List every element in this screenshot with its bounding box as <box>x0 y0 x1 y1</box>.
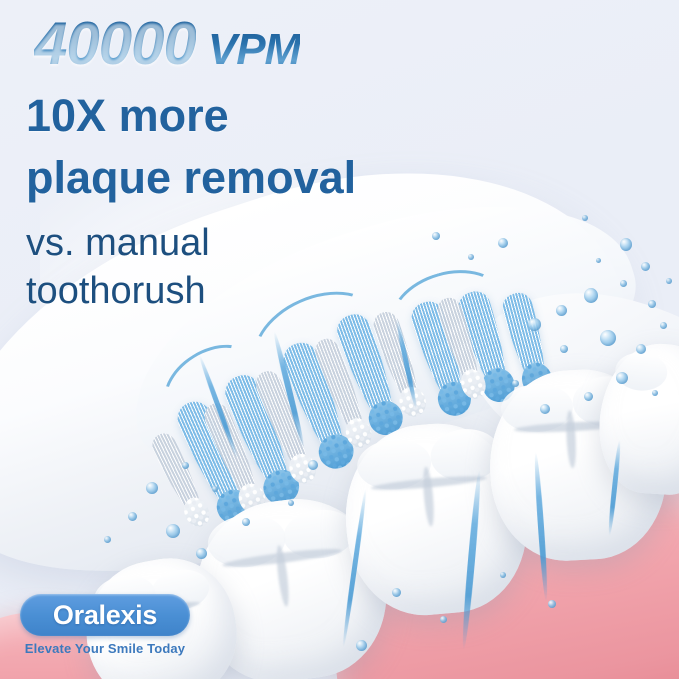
water-droplet <box>468 254 474 260</box>
water-droplet <box>620 238 632 251</box>
comparison-line-1: vs. manual <box>26 224 210 264</box>
headline-vpm: 40000VPM <box>34 14 300 74</box>
headline-number: 40000 <box>34 10 196 77</box>
water-droplet <box>584 288 598 303</box>
water-droplet <box>666 278 672 284</box>
water-droplet <box>616 372 628 384</box>
water-droplet <box>500 572 506 578</box>
water-droplet <box>146 482 158 494</box>
water-droplet <box>182 462 189 469</box>
water-droplet <box>556 305 567 316</box>
headline-unit: VPM <box>208 25 300 74</box>
water-droplet <box>560 345 568 353</box>
brand-name: Oralexis <box>53 602 157 629</box>
water-droplet <box>636 344 646 354</box>
water-droplet <box>498 238 508 248</box>
claim-line-1: 10X more <box>26 93 229 139</box>
water-droplet <box>620 280 627 287</box>
comparison-line-2: toothorush <box>26 272 206 312</box>
water-droplet <box>356 640 367 651</box>
water-droplet <box>242 518 250 526</box>
water-droplet <box>196 548 207 559</box>
logo-pill: Oralexis <box>20 594 190 636</box>
water-droplet <box>288 500 294 506</box>
brand-tagline: Elevate Your Smile Today <box>20 641 190 656</box>
water-droplet <box>652 390 658 396</box>
water-droplet <box>548 600 556 608</box>
water-droplet <box>308 460 318 470</box>
water-droplet <box>212 486 218 492</box>
water-droplet <box>440 616 447 623</box>
water-droplet <box>512 380 519 387</box>
water-droplet <box>104 536 111 543</box>
water-droplet <box>582 215 588 221</box>
brand-logo: Oralexis Elevate Your Smile Today <box>20 594 190 656</box>
water-droplet <box>660 322 667 329</box>
water-droplet <box>528 318 541 331</box>
water-droplet <box>641 262 650 271</box>
water-droplet <box>600 330 616 346</box>
claim-line-2: plaque removal <box>26 155 356 201</box>
water-droplet <box>166 524 180 538</box>
water-droplet <box>128 512 137 521</box>
water-droplet <box>584 392 593 401</box>
water-droplet <box>392 588 401 597</box>
water-droplet <box>540 404 550 414</box>
water-droplet <box>648 300 656 308</box>
water-droplet <box>432 232 440 240</box>
product-banner: 40000VPM 10X more plaque removal vs. man… <box>0 0 679 679</box>
water-droplet <box>596 258 601 263</box>
